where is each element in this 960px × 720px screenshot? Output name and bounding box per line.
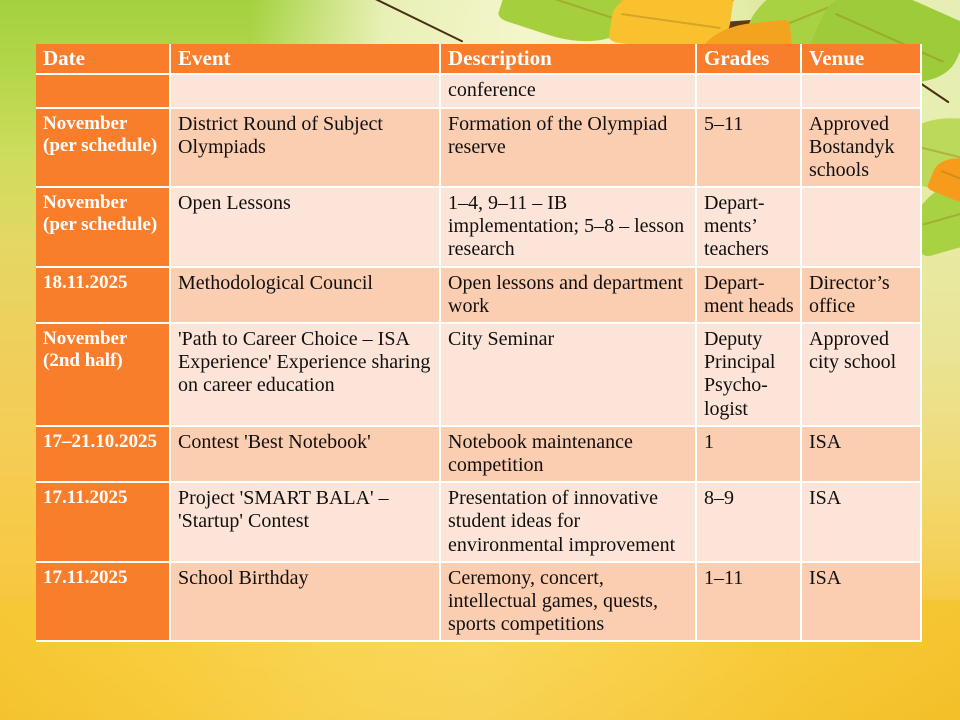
column-header-grades: Grades — [697, 44, 802, 75]
cell-venue: Director’s office — [802, 268, 922, 324]
table-row: November (2nd half) 'Path to Career Choi… — [36, 324, 922, 427]
cell-grades: Deputy Principal Psycho-logist — [697, 324, 802, 427]
cell-event: Contest 'Best Notebook' — [171, 427, 441, 483]
cell-event: 'Path to Career Choice – ISA Experience'… — [171, 324, 441, 427]
cell-date: November (per schedule) — [36, 109, 171, 189]
cell-venue: ISA — [802, 427, 922, 483]
cell-grades: 1–11 — [697, 563, 802, 643]
table-row: 17–21.10.2025 Contest 'Best Notebook' No… — [36, 427, 922, 483]
table-header-row: Date Event Description Grades Venue — [36, 44, 922, 75]
cell-venue: Approved Bostandyk schools — [802, 109, 922, 189]
cell-event: Project 'SMART BALA' – 'Startup' Contest — [171, 483, 441, 563]
cell-venue — [802, 188, 922, 268]
cell-event: Methodological Council — [171, 268, 441, 324]
table-header: Date Event Description Grades Venue — [36, 44, 922, 75]
cell-date: November (per schedule) — [36, 188, 171, 268]
cell-grades: Depart-ments’ teachers — [697, 188, 802, 268]
cell-grades: Depart-ment heads — [697, 268, 802, 324]
table-row: 17.11.2025 Project 'SMART BALA' – 'Start… — [36, 483, 922, 563]
table-row: November (per schedule) District Round o… — [36, 109, 922, 189]
table-row: November (per schedule) Open Lessons 1–4… — [36, 188, 922, 268]
schedule-table: Date Event Description Grades Venue conf… — [36, 44, 922, 642]
cell-date — [36, 75, 171, 108]
cell-description: Formation of the Olympiad reserve — [441, 109, 697, 189]
cell-date: 17.11.2025 — [36, 563, 171, 643]
column-header-description: Description — [441, 44, 697, 75]
cell-description: Open lessons and department work — [441, 268, 697, 324]
cell-date: 18.11.2025 — [36, 268, 171, 324]
cell-event — [171, 75, 441, 108]
cell-date: 17–21.10.2025 — [36, 427, 171, 483]
cell-venue — [802, 75, 922, 108]
cell-venue: ISA — [802, 483, 922, 563]
column-header-event: Event — [171, 44, 441, 75]
cell-grades — [697, 75, 802, 108]
column-header-date: Date — [36, 44, 171, 75]
cell-grades: 5–11 — [697, 109, 802, 189]
table-row: 17.11.2025 School Birthday Ceremony, con… — [36, 563, 922, 643]
cell-event: District Round of Subject Olympiads — [171, 109, 441, 189]
cell-date: November (2nd half) — [36, 324, 171, 427]
table-row: 18.11.2025 Methodological Council Open l… — [36, 268, 922, 324]
cell-description: conference — [441, 75, 697, 108]
table-body: conference November (per schedule) Distr… — [36, 75, 922, 642]
column-header-venue: Venue — [802, 44, 922, 75]
cell-description: City Seminar — [441, 324, 697, 427]
cell-description: 1–4, 9–11 – IB implementation; 5–8 – les… — [441, 188, 697, 268]
cell-date: 17.11.2025 — [36, 483, 171, 563]
table-row: conference — [36, 75, 922, 108]
cell-description: Ceremony, concert, intellectual games, q… — [441, 563, 697, 643]
cell-grades: 1 — [697, 427, 802, 483]
slide-canvas: Date Event Description Grades Venue conf… — [0, 0, 960, 720]
cell-description: Notebook maintenance competition — [441, 427, 697, 483]
cell-event: Open Lessons — [171, 188, 441, 268]
cell-event: School Birthday — [171, 563, 441, 643]
cell-description: Presentation of innovative student ideas… — [441, 483, 697, 563]
cell-venue: ISA — [802, 563, 922, 643]
cell-grades: 8–9 — [697, 483, 802, 563]
cell-venue: Approved city school — [802, 324, 922, 427]
